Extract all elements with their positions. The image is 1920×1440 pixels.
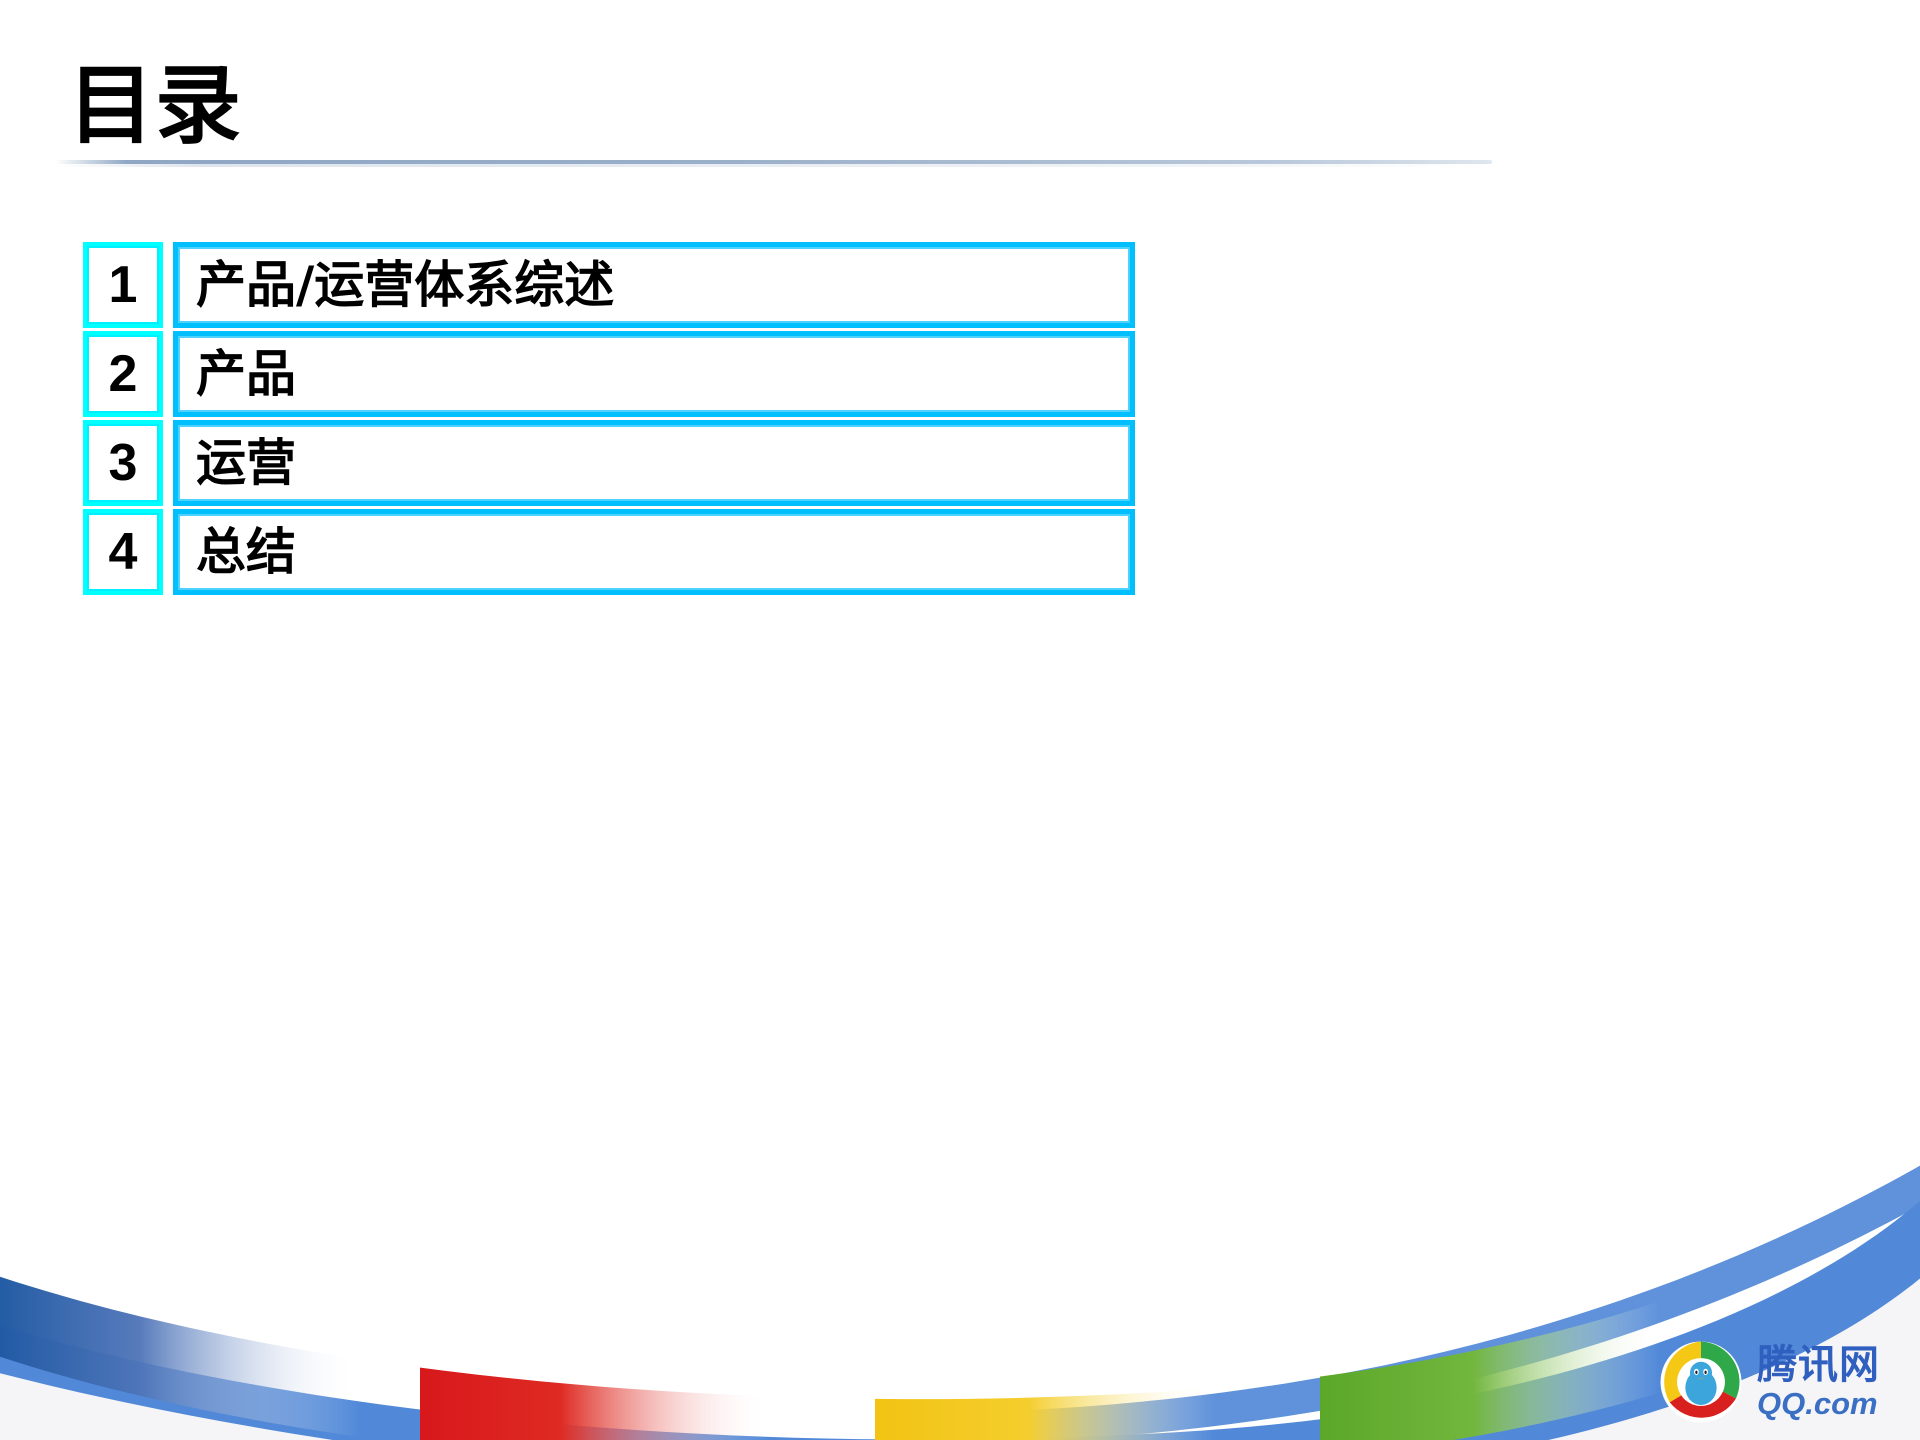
toc-text-inner-3: 运营 bbox=[178, 425, 1130, 501]
toc-number-inner-4: 4 bbox=[87, 513, 159, 591]
toc-number-4: 4 bbox=[109, 526, 138, 578]
page-title: 目录 bbox=[68, 56, 1568, 156]
toc-number-inner-2: 2 bbox=[87, 335, 159, 413]
qq-wordmark: 腾讯网 QQ.com bbox=[1757, 1345, 1880, 1419]
toc-label-3: 运营 bbox=[196, 438, 296, 488]
logo-name-en: QQ.com bbox=[1757, 1388, 1880, 1419]
red-band bbox=[420, 1140, 770, 1440]
slide-canvas: 目录 1 产品/运营体系综述 2 bbox=[0, 0, 1920, 1440]
toc-number-cell-1: 1 bbox=[83, 242, 163, 328]
toc-number-1: 1 bbox=[109, 259, 138, 311]
toc-number-cell-3: 3 bbox=[83, 420, 163, 506]
toc-row-1[interactable]: 1 产品/运营体系综述 bbox=[83, 242, 1135, 328]
toc-text-inner-2: 产品 bbox=[178, 336, 1130, 412]
yellow-band bbox=[875, 1140, 1215, 1440]
toc-label-4: 总结 bbox=[196, 527, 296, 577]
toc-text-inner-4: 总结 bbox=[178, 514, 1130, 590]
color-band-group bbox=[0, 1140, 1660, 1440]
toc-label-1: 产品/运营体系综述 bbox=[196, 260, 614, 310]
toc-row-3[interactable]: 3 运营 bbox=[83, 420, 1135, 506]
toc-number-inner-3: 3 bbox=[87, 424, 159, 502]
title-divider-shadow bbox=[55, 164, 1492, 167]
tencent-qq-logo[interactable]: 腾讯网 QQ.com bbox=[1655, 1332, 1903, 1432]
toc-text-cell-2[interactable]: 产品 bbox=[173, 331, 1135, 417]
toc-row-2[interactable]: 2 产品 bbox=[83, 331, 1135, 417]
toc-text-cell-4[interactable]: 总结 bbox=[173, 509, 1135, 595]
bottom-decoration bbox=[0, 1020, 1920, 1440]
qq-penguin-mark-icon bbox=[1655, 1336, 1747, 1428]
dark-blue-band bbox=[0, 1140, 360, 1440]
toc-label-2: 产品 bbox=[196, 349, 296, 399]
green-band bbox=[1320, 1140, 1660, 1440]
toc-text-cell-1[interactable]: 产品/运营体系综述 bbox=[173, 242, 1135, 328]
toc-number-2: 2 bbox=[109, 348, 138, 400]
toc-text-cell-3[interactable]: 运营 bbox=[173, 420, 1135, 506]
toc-row-4[interactable]: 4 总结 bbox=[83, 509, 1135, 595]
toc-number-cell-2: 2 bbox=[83, 331, 163, 417]
title-block: 目录 bbox=[68, 56, 1568, 166]
toc-text-inner-1: 产品/运营体系综述 bbox=[178, 247, 1130, 323]
logo-name-cn: 腾讯网 bbox=[1757, 1345, 1880, 1385]
toc-number-inner-1: 1 bbox=[87, 246, 159, 324]
toc-table: 1 产品/运营体系综述 2 产品 bbox=[83, 242, 1135, 595]
blue-swoosh bbox=[0, 1192, 1920, 1440]
toc-number-cell-4: 4 bbox=[83, 509, 163, 595]
footer-fill bbox=[0, 1216, 1920, 1440]
toc-number-3: 3 bbox=[109, 437, 138, 489]
